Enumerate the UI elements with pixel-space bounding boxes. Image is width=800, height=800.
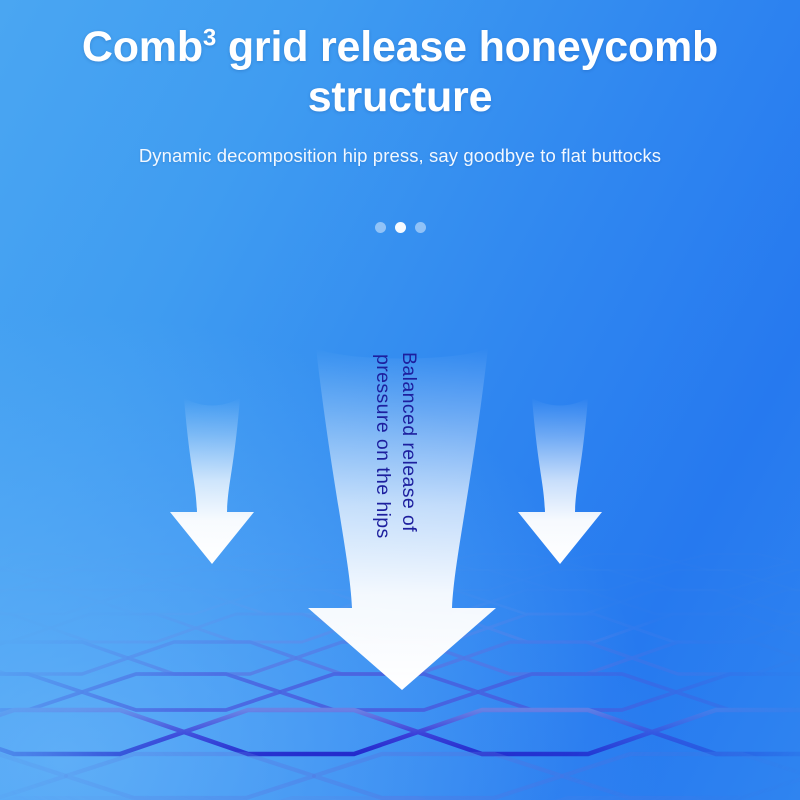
page-title-superscript: 3 [203, 25, 216, 52]
page-title-main: Comb [82, 23, 203, 71]
carousel-dot-3[interactable] [415, 222, 426, 233]
page-title: Comb3 grid release honeycomb structure [0, 0, 800, 123]
vertical-caption: Balanced release of pressure on the hips [362, 348, 428, 608]
page-title-rest: grid release honeycomb structure [216, 23, 718, 121]
carousel-dot-1[interactable] [375, 222, 386, 233]
page-subtitle: Dynamic decomposition hip press, say goo… [0, 145, 800, 167]
vertical-caption-line-1: Balanced release of [397, 352, 420, 532]
headline-block: Comb3 grid release honeycomb structure D… [0, 0, 800, 167]
vertical-caption-line-2: pressure on the hips [371, 354, 394, 539]
carousel-dot-2[interactable] [395, 222, 406, 233]
pressure-arrow-left [170, 398, 254, 564]
poster-root: Balanced release of pressure on the hips… [0, 0, 800, 800]
pressure-arrow-right [518, 398, 602, 564]
carousel-dots[interactable] [0, 222, 800, 233]
